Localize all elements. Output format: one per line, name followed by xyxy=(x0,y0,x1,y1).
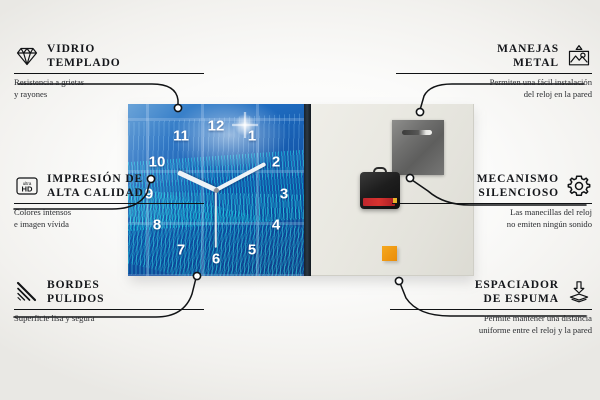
callout-subtitle-line1: Permiten una fácil instalación xyxy=(490,77,592,87)
callout-header: ESPACIADORDE ESPUMA xyxy=(390,278,592,306)
clock-numeral-2: 2 xyxy=(272,155,280,170)
callout-subtitle: Resistencia a grietasy rayones xyxy=(14,77,204,100)
clock-hand-cap xyxy=(214,188,219,193)
ultra-hd-icon: ultra HD xyxy=(14,173,40,199)
callout-impresion-alta-calidad: ultra HD IMPRESIÓN DEALTA CALIDAD Colore… xyxy=(14,172,204,230)
hanger-slot xyxy=(402,130,432,135)
callout-header: MECANISMOSILENCIOSO xyxy=(392,172,592,200)
clock-numeral-3: 3 xyxy=(280,187,288,202)
callout-title-line1: IMPRESIÓN DE xyxy=(47,173,143,185)
svg-text:HD: HD xyxy=(22,185,33,194)
callout-divider xyxy=(14,203,204,204)
picture-hanger-icon xyxy=(566,43,592,69)
callout-divider xyxy=(14,309,204,310)
diamond-icon xyxy=(14,43,40,69)
callout-divider xyxy=(392,203,592,204)
foam-spacer xyxy=(382,246,397,261)
callout-title: MECANISMOSILENCIOSO xyxy=(477,172,559,200)
callout-divider xyxy=(390,309,592,310)
callout-title: VIDRIOTEMPLADO xyxy=(47,42,121,70)
callout-title-line1: ESPACIADOR xyxy=(475,279,559,291)
callout-divider xyxy=(396,73,592,74)
callout-title-line1: MANEJAS xyxy=(497,43,559,55)
callout-subtitle-line1: Superficie lisa y segura xyxy=(14,313,94,323)
callout-title-line2: PULIDOS xyxy=(47,293,104,305)
callout-subtitle-line2: uniforme entre el reloj y la pared xyxy=(479,325,592,335)
clock-numeral-7: 7 xyxy=(177,243,185,258)
callout-subtitle-line1: Resistencia a grietas xyxy=(14,77,84,87)
callout-title-line1: VIDRIO xyxy=(47,43,95,55)
infographic-canvas: 12 1 2 3 4 5 6 7 8 9 10 11 xyxy=(0,0,600,400)
callout-subtitle-line1: Las manecillas del reloj xyxy=(510,207,592,217)
clock-second-hand xyxy=(215,190,217,248)
callout-mecanismo-silencioso: MECANISMOSILENCIOSO Las manecillas del r… xyxy=(392,172,592,230)
glass-thickness-edge xyxy=(304,104,311,276)
callout-subtitle: Permiten una fácil instalacióndel reloj … xyxy=(396,77,592,100)
callout-bordes-pulidos: BORDESPULIDOS Superficie lisa y segura xyxy=(14,278,204,325)
callout-subtitle: Colores intensose imagen vívida xyxy=(14,207,204,230)
callout-title-line2: SILENCIOSO xyxy=(478,187,559,199)
callout-title-line2: DE ESPUMA xyxy=(483,293,559,305)
callout-espaciador-espuma: ESPACIADORDE ESPUMA Permite mantener una… xyxy=(390,278,592,336)
callout-title-line1: MECANISMO xyxy=(477,173,559,185)
callout-header: MANEJASMETAL xyxy=(396,42,592,70)
callout-subtitle-line2: y rayones xyxy=(14,89,47,99)
polished-edge-icon xyxy=(14,279,40,305)
callout-vidrio-templado: VIDRIOTEMPLADO Resistencia a grietasy ra… xyxy=(14,42,204,100)
gear-icon xyxy=(566,173,592,199)
callout-header: ultra HD IMPRESIÓN DEALTA CALIDAD xyxy=(14,172,204,200)
callout-title-line1: BORDES xyxy=(47,279,100,291)
clock-numeral-5: 5 xyxy=(248,243,256,258)
mechanism-battery xyxy=(363,198,395,206)
clock-numeral-11: 11 xyxy=(173,129,189,144)
clock-numeral-1: 1 xyxy=(248,129,256,144)
callout-title: MANEJASMETAL xyxy=(497,42,559,70)
callout-title-line2: METAL xyxy=(513,57,559,69)
callout-title-line2: ALTA CALIDAD xyxy=(47,187,144,199)
callout-title: ESPACIADORDE ESPUMA xyxy=(475,278,559,306)
callout-title: IMPRESIÓN DEALTA CALIDAD xyxy=(47,172,144,200)
callout-subtitle-line1: Colores intensos xyxy=(14,207,71,217)
callout-subtitle-line2: no emiten ningún sonido xyxy=(507,219,592,229)
callout-subtitle-line2: del reloj en la pared xyxy=(524,89,592,99)
callout-subtitle-line2: e imagen vívida xyxy=(14,219,69,229)
callout-header: VIDRIOTEMPLADO xyxy=(14,42,204,70)
callout-manejas-metal: MANEJASMETAL Permiten una fácil instalac… xyxy=(396,42,592,100)
callout-subtitle: Permite mantener una distanciauniforme e… xyxy=(390,313,592,336)
foam-spacer-icon xyxy=(566,279,592,305)
callout-title: BORDESPULIDOS xyxy=(47,278,104,306)
callout-subtitle: Las manecillas del relojno emiten ningún… xyxy=(392,207,592,230)
clock-numeral-10: 10 xyxy=(149,155,166,170)
callout-divider xyxy=(14,73,204,74)
clock-numeral-4: 4 xyxy=(272,218,280,233)
clock-numeral-12: 12 xyxy=(208,119,225,134)
callout-subtitle-line1: Permite mantener una distancia xyxy=(484,313,592,323)
callout-title-line2: TEMPLADO xyxy=(47,57,121,69)
callout-header: BORDESPULIDOS xyxy=(14,278,204,306)
clock-numeral-6: 6 xyxy=(212,252,220,267)
callout-subtitle: Superficie lisa y segura xyxy=(14,313,204,324)
